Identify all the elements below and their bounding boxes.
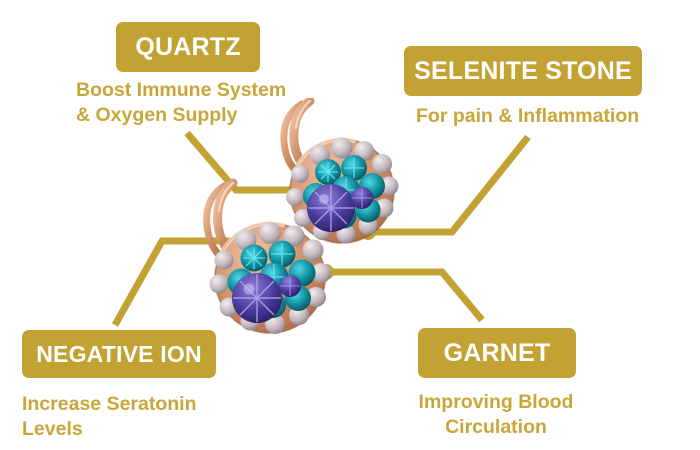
leader-line-garnet bbox=[326, 272, 482, 320]
callout-title-quartz: QUARTZ bbox=[135, 33, 240, 62]
callout-description-garnet: Improving Blood Circulation bbox=[396, 390, 596, 440]
callout-description-selenite: For pain & Inflammation bbox=[416, 104, 680, 129]
callout-title-negative-ion: NEGATIVE ION bbox=[36, 341, 202, 368]
earring-lower-left bbox=[188, 178, 348, 338]
callout-description-negative-ion: Increase Seratonin Levels bbox=[22, 392, 262, 442]
crystal-secondary-purple bbox=[351, 187, 373, 209]
callout-chip-selenite: SELENITE STONE bbox=[404, 46, 642, 96]
callout-title-selenite: SELENITE STONE bbox=[414, 57, 632, 86]
callout-title-garnet: GARNET bbox=[444, 339, 551, 368]
callout-chip-quartz: QUARTZ bbox=[116, 22, 260, 72]
callout-chip-garnet: GARNET bbox=[418, 328, 576, 378]
crystal-secondary-purple bbox=[279, 275, 301, 297]
crystal-focal-purple bbox=[232, 273, 282, 323]
gemstone-benefits-infographic: QUARTZ Boost Immune System & Oxygen Supp… bbox=[0, 0, 700, 450]
callout-chip-negative-ion: NEGATIVE ION bbox=[22, 330, 216, 378]
callout-description-quartz: Boost Immune System & Oxygen Supply bbox=[76, 78, 336, 128]
